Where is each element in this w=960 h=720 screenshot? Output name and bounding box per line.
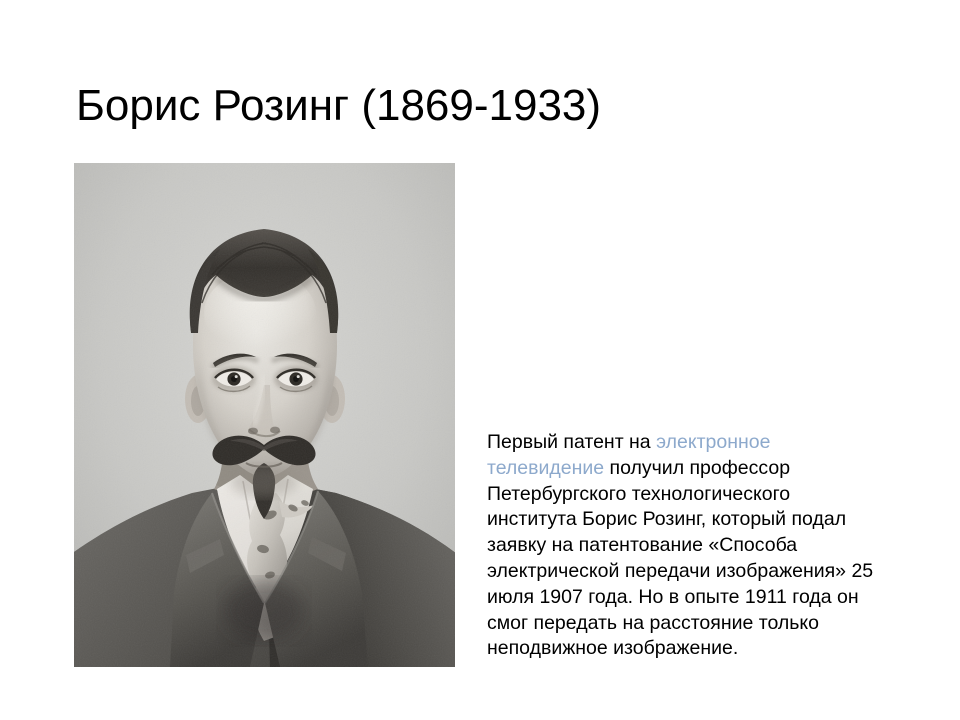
portrait-image: [74, 163, 455, 667]
body-paragraph: Первый патент на электронное телевидение…: [487, 430, 879, 662]
presentation-slide: Борис Розинг (1869-1933): [0, 0, 960, 720]
page-title: Борис Розинг (1869-1933): [76, 80, 896, 132]
portrait-photo: [74, 163, 455, 667]
body-text-part2: получил профессор Петербургского техноло…: [487, 457, 873, 660]
body-text-part1: Первый патент на: [487, 431, 656, 453]
